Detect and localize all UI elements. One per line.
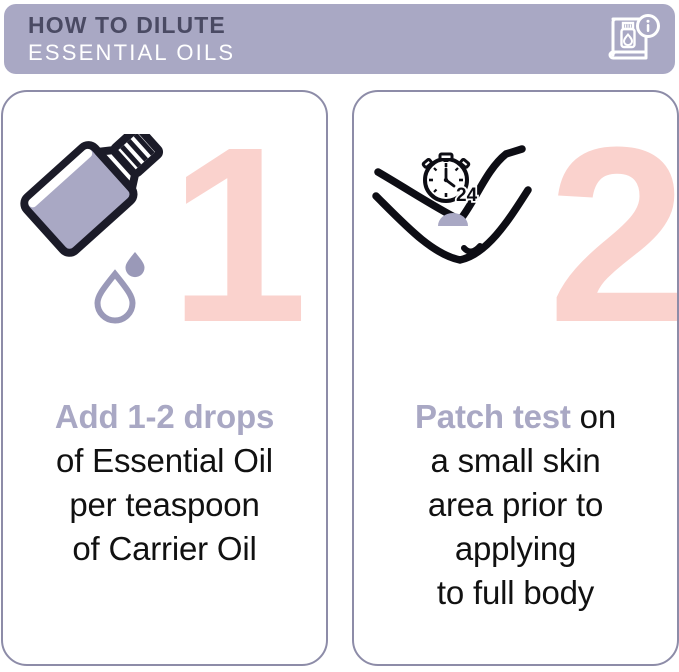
step-card-2-line-1: a small skin: [354, 439, 677, 483]
page-subtitle: ESSENTIAL OILS: [28, 39, 235, 67]
step-card-1-line-3: of Carrier Oil: [3, 527, 326, 571]
arm-patch-test-stopwatch-illustration: 24: [364, 134, 574, 289]
page-title: HOW TO DILUTE: [28, 11, 235, 39]
stopwatch-hours-label: 24: [456, 185, 478, 206]
step-card-2-inner: 2: [354, 92, 677, 664]
header-title-group: HOW TO DILUTE ESSENTIAL OILS: [28, 11, 235, 67]
step-card-2-line-3: applying: [354, 527, 677, 571]
step-card-2-highlight: Patch test: [415, 398, 571, 435]
dropper-bottle-with-drops-illustration: [19, 134, 189, 349]
step-card-1: 1: [1, 90, 328, 666]
step-card-1-inner: 1: [3, 92, 326, 664]
step-card-2-text: Patch test on a small skin area prior to…: [354, 395, 677, 615]
step-card-2-line-2: area prior to: [354, 483, 677, 527]
step-card-1-highlight: Add 1-2 drops: [55, 398, 274, 435]
step-card-1-text: Add 1-2 drops of Essential Oil per teasp…: [3, 395, 326, 571]
step-card-1-line-1: of Essential Oil: [3, 439, 326, 483]
header-bar: HOW TO DILUTE ESSENTIAL OILS: [4, 4, 675, 74]
step-card-2: 2: [352, 90, 679, 666]
step-card-2-line-4: to full body: [354, 571, 677, 615]
step-card-2-line-0-tail: on: [571, 398, 616, 435]
step-card-1-line-2: per teaspoon: [3, 483, 326, 527]
essential-oil-bottle-info-icon: [607, 13, 661, 65]
